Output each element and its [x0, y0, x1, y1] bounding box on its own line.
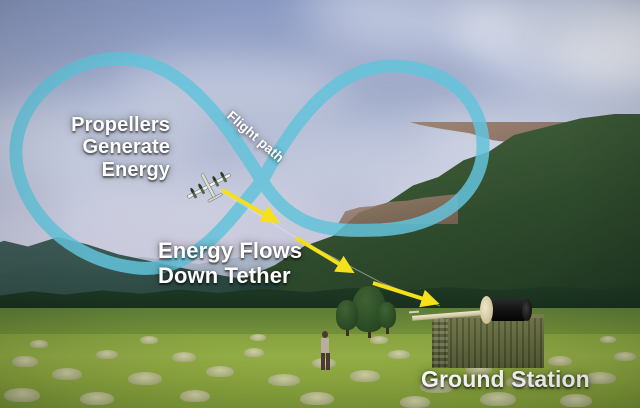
tethered-aircraft: [181, 162, 237, 210]
label-energy-flows-down-tether: Energy Flows Down Tether: [158, 239, 302, 288]
tether-arrow-2: [296, 238, 346, 268]
tether-arrow-3: [373, 283, 430, 301]
diagram-canvas: Propellers Generate Energy Energy Flows …: [0, 0, 640, 408]
label-propellers-generate-energy: Propellers Generate Energy: [71, 114, 170, 181]
flight-path-overlay: [0, 0, 640, 408]
label-ground-station: Ground Station: [421, 367, 590, 393]
aircraft-tail: [208, 193, 223, 203]
